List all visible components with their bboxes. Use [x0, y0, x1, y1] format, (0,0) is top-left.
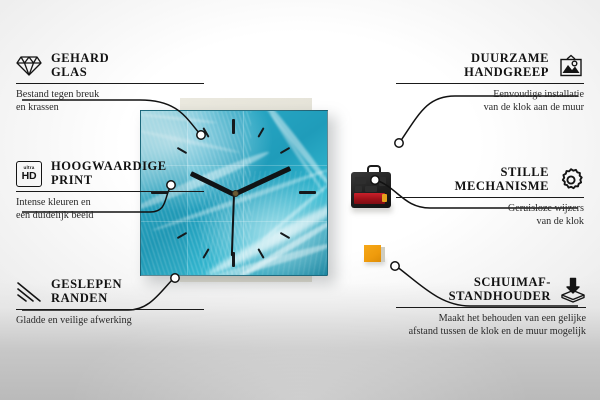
feature-divider	[396, 83, 584, 84]
picture-frame-icon	[558, 53, 584, 79]
feature-divider	[396, 307, 586, 308]
foam-spacer-side	[381, 247, 385, 262]
feature-desc-line2: en krassen	[16, 101, 204, 114]
feature-title-line1: DUURZAME	[471, 52, 549, 66]
feature-geslepen-randen: GESLEPEN RANDEN Gladde en veilige afwerk…	[16, 278, 204, 327]
feature-desc-line1: Maakt het behouden van een gelijke	[396, 312, 586, 325]
clock-tick-3	[299, 191, 316, 194]
feature-desc-line2: van de klok	[396, 215, 584, 228]
spacer-arrow-icon	[560, 277, 586, 303]
ultra-hd-large-label: HD	[22, 171, 37, 182]
feature-desc-line2: van de klok aan de muur	[396, 101, 584, 114]
clock-tick-2	[280, 147, 291, 154]
feature-title-line1: SCHUIMAF-	[474, 276, 551, 290]
feature-divider	[396, 197, 584, 198]
feature-desc-line1: Bestand tegen breuk	[16, 88, 204, 101]
clock-pivot	[232, 190, 239, 197]
feature-divider	[16, 83, 204, 84]
feature-divider	[16, 191, 204, 192]
feature-schuimafstandhouder: SCHUIMAF- STANDHOUDER Maakt het behouden…	[396, 276, 586, 339]
feature-title-line1: GEHARD	[51, 52, 109, 66]
feature-title-line2: MECHANISME	[455, 180, 549, 194]
clock-mesh-line	[243, 111, 244, 275]
feature-desc-line1: Intense kleuren en	[16, 196, 204, 209]
mechanism-battery-terminal	[382, 194, 387, 202]
feature-desc-line1: Eenvoudige installatie	[396, 88, 584, 101]
feature-title-line2: PRINT	[51, 174, 167, 188]
ultra-hd-icon: ultra HD	[16, 161, 42, 187]
feature-divider	[16, 309, 204, 310]
feature-title-line1: HOOGWAARDIGE	[51, 160, 167, 174]
diamond-icon	[16, 53, 42, 79]
feature-hoogwaardige-print: ultra HD HOOGWAARDIGE PRINT Intense kleu…	[16, 160, 204, 223]
product-infographic: GEHARD GLAS Bestand tegen breuk en krass…	[0, 0, 600, 400]
foam-spacer	[364, 245, 381, 262]
gear-icon	[558, 167, 584, 193]
mechanism-battery	[354, 193, 385, 204]
beveled-edges-icon	[16, 279, 42, 305]
feature-stille-mechanisme: STILLE MECHANISME Geruisloze wijzers van…	[396, 166, 584, 229]
feature-title-line2: RANDEN	[51, 292, 122, 306]
feature-desc-line2: een duidelijk beeld	[16, 209, 204, 222]
feature-title-line2: STANDHOUDER	[449, 290, 551, 304]
clock-tick-1	[257, 127, 264, 138]
clock-tick-12	[232, 119, 235, 134]
feature-desc-line1: Gladde en veilige afwerking	[16, 314, 204, 327]
feature-desc-line1: Geruisloze wijzers	[396, 202, 584, 215]
feature-title-line1: STILLE	[501, 166, 549, 180]
feature-title-line2: GLAS	[51, 66, 109, 80]
feature-desc-line2: afstand tussen de klok en de muur mogeli…	[396, 325, 586, 338]
feature-title-line2: HANDGREEP	[464, 66, 549, 80]
feature-duurzame-handgreep: DUURZAME HANDGREEP Eenvoudige installati…	[396, 52, 584, 115]
feature-title-line1: GESLEPEN	[51, 278, 122, 292]
feature-gehard-glas: GEHARD GLAS Bestand tegen breuk en krass…	[16, 52, 204, 115]
